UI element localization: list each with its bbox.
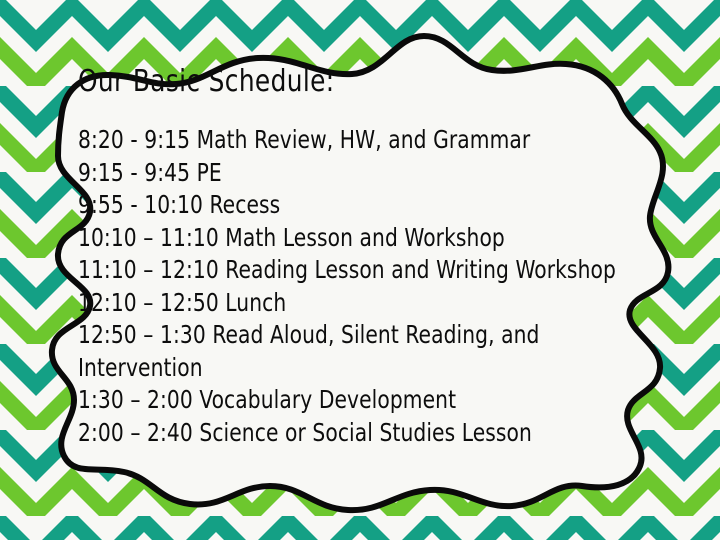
schedule-line: 10:10 – 11:10 Math Lesson and Workshop (78, 222, 582, 255)
schedule-line: 8:20 - 9:15 Math Review, HW, and Grammar (78, 124, 582, 157)
schedule-poster: Our Basic Schedule: 8:20 - 9:15 Math Rev… (0, 0, 720, 540)
schedule-line: 1:30 – 2:00 Vocabulary Development (78, 384, 582, 417)
schedule-line: 12:10 – 12:50 Lunch (78, 287, 582, 320)
schedule-line: 12:50 – 1:30 Read Aloud, Silent Reading,… (78, 319, 582, 384)
schedule-line: 2:00 – 2:40 Science or Social Studies Le… (78, 417, 582, 450)
schedule-text-block: Our Basic Schedule: 8:20 - 9:15 Math Rev… (78, 66, 638, 476)
page-title: Our Basic Schedule: (78, 66, 593, 98)
schedule-line: 11:10 – 12:10 Reading Lesson and Writing… (78, 254, 582, 287)
schedule-line: 9:55 - 10:10 Recess (78, 189, 582, 222)
schedule-line: 9:15 - 9:45 PE (78, 157, 582, 190)
